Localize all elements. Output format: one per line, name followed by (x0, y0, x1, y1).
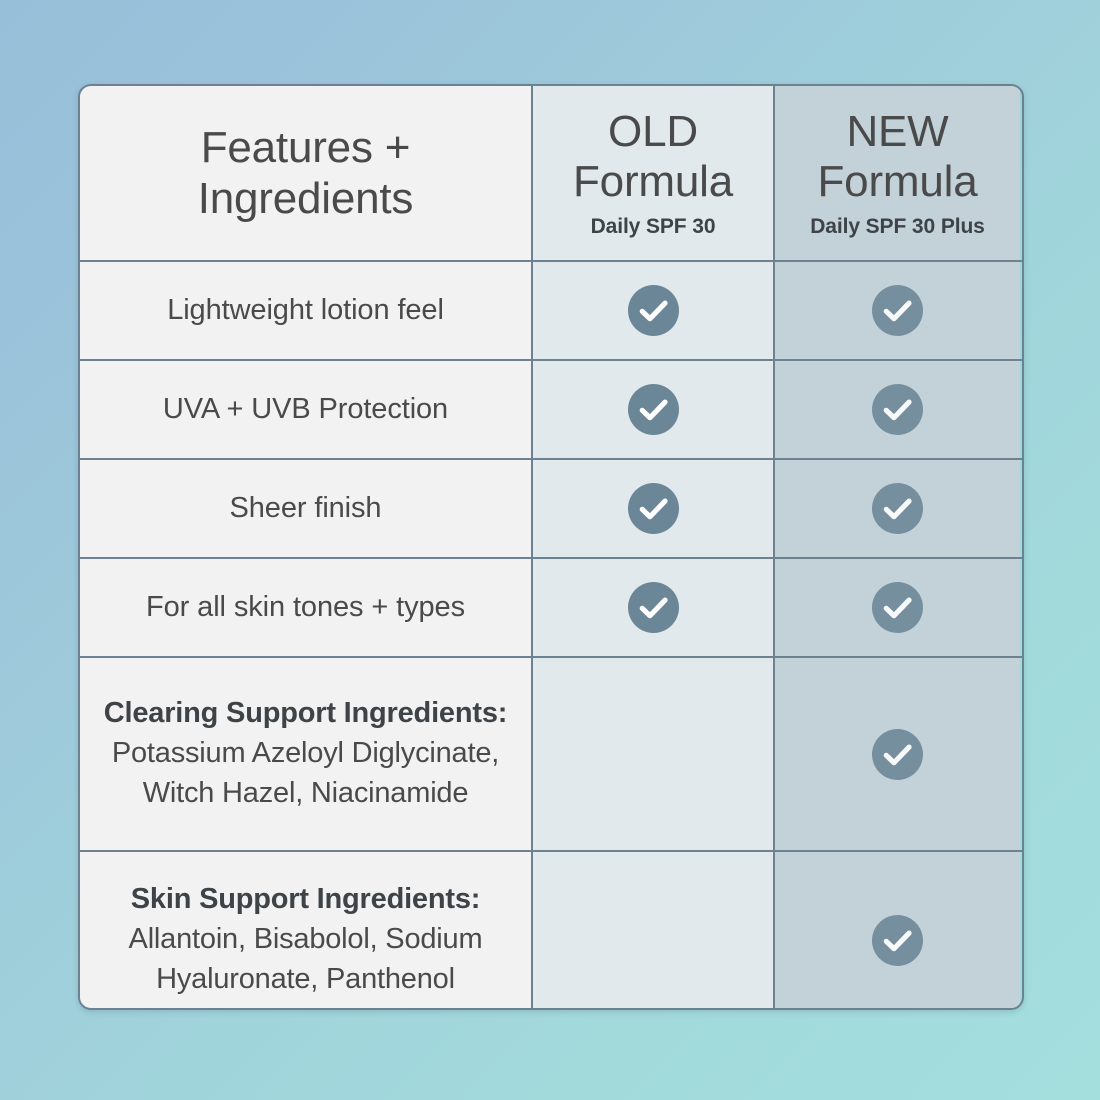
new-formula-cell (775, 559, 1020, 656)
header-cell-features: Features + Ingredients (80, 86, 533, 260)
new-formula-subtitle: Daily SPF 30 Plus (810, 215, 985, 239)
feature-cell: Lightweight lotion feel (80, 262, 533, 359)
new-formula-cell (775, 262, 1020, 359)
table-row: Clearing Support Ingredients: Potassium … (80, 658, 1022, 852)
formula-comparison-table: Features + Ingredients OLD Formula Daily… (78, 84, 1024, 1010)
feature-label: For all skin tones + types (124, 589, 487, 625)
table-header-row: Features + Ingredients OLD Formula Daily… (80, 86, 1022, 262)
features-header-line2: Ingredients (198, 174, 414, 223)
old-formula-subtitle: Daily SPF 30 (591, 215, 716, 239)
check-circle-icon (628, 582, 679, 633)
check-circle-icon (628, 384, 679, 435)
header-cell-new-formula: NEW Formula Daily SPF 30 Plus (775, 86, 1020, 260)
old-formula-cell (533, 559, 775, 656)
feature-cell: Skin Support Ingredients: Allantoin, Bis… (80, 852, 533, 1010)
new-formula-cell (775, 852, 1020, 1010)
table-row: Sheer finish (80, 460, 1022, 559)
new-formula-cell (775, 460, 1020, 557)
feature-cell: Clearing Support Ingredients: Potassium … (80, 658, 533, 850)
table-row: UVA + UVB Protection (80, 361, 1022, 460)
check-circle-icon (872, 915, 923, 966)
old-formula-cell (533, 262, 775, 359)
new-formula-title-line1: NEW (846, 107, 948, 156)
feature-cell: For all skin tones + types (80, 559, 533, 656)
features-header-line1: Features + (201, 123, 411, 172)
feature-label: UVA + UVB Protection (141, 391, 470, 427)
ingredient-label-rest: Allantoin, Bisabolol, Sodium Hyaluronate… (129, 923, 483, 995)
feature-label: Lightweight lotion feel (145, 292, 466, 328)
table-row: For all skin tones + types (80, 559, 1022, 658)
check-circle-icon (628, 285, 679, 336)
ingredient-label-rest: Potassium Azeloyl Diglycinate, Witch Haz… (112, 737, 499, 809)
feature-cell: UVA + UVB Protection (80, 361, 533, 458)
table-row: Lightweight lotion feel (80, 262, 1022, 361)
check-circle-icon (628, 483, 679, 534)
features-header-text: Features + Ingredients (178, 122, 434, 225)
old-formula-title: OLD Formula (573, 107, 733, 206)
header-cell-old-formula: OLD Formula Daily SPF 30 (533, 86, 775, 260)
check-circle-icon (872, 285, 923, 336)
check-circle-icon (872, 582, 923, 633)
new-formula-title: NEW Formula (818, 107, 978, 206)
new-formula-cell (775, 361, 1020, 458)
new-formula-title-line2: Formula (818, 157, 978, 206)
ingredient-label: Clearing Support Ingredients: Potassium … (80, 694, 531, 813)
old-formula-title-line2: Formula (573, 157, 733, 206)
check-circle-icon (872, 483, 923, 534)
table-row: Skin Support Ingredients: Allantoin, Bis… (80, 852, 1022, 1010)
ingredient-label: Skin Support Ingredients: Allantoin, Bis… (80, 880, 531, 999)
old-formula-cell (533, 361, 775, 458)
new-formula-cell (775, 658, 1020, 850)
old-formula-title-line1: OLD (608, 107, 698, 156)
ingredient-label-bold: Clearing Support Ingredients: (104, 697, 507, 729)
ingredient-label-bold: Skin Support Ingredients: (131, 883, 480, 915)
comparison-infographic: Features + Ingredients OLD Formula Daily… (0, 0, 1100, 1100)
check-circle-icon (872, 729, 923, 780)
old-formula-cell (533, 852, 775, 1010)
check-circle-icon (872, 384, 923, 435)
feature-cell: Sheer finish (80, 460, 533, 557)
feature-label: Sheer finish (208, 490, 404, 526)
old-formula-cell (533, 460, 775, 557)
old-formula-cell (533, 658, 775, 850)
